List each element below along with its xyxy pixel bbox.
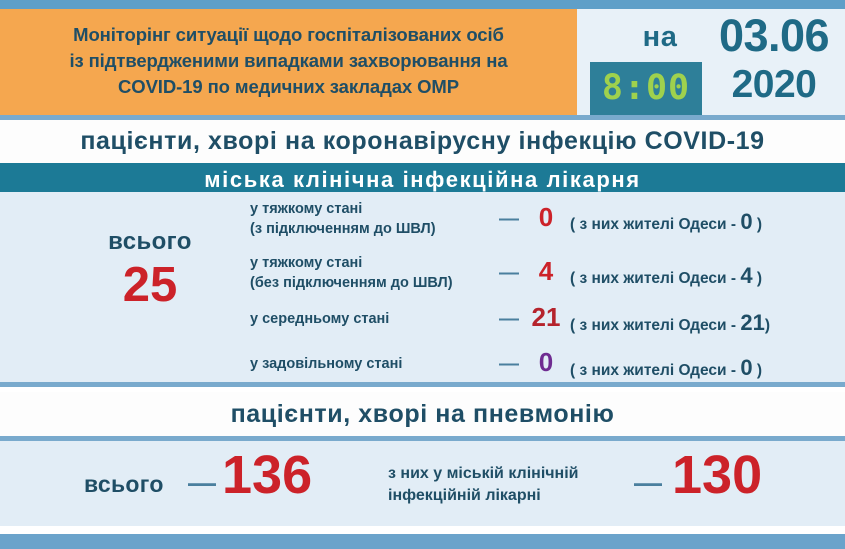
- row-value: 21: [522, 302, 570, 333]
- report-date: 03.06: [709, 13, 839, 58]
- row-label-line-1: у задовільному стані: [250, 355, 492, 375]
- row-odesa-prefix: ( з них жителі Одеси -: [570, 362, 740, 379]
- report-year: 2020: [709, 65, 839, 104]
- row-odesa-prefix: ( з них жителі Одеси -: [570, 270, 740, 287]
- pneumonia-sub-label-line-2: інфекційній лікарні: [388, 485, 638, 507]
- row-odesa-prefix: ( з них жителі Одеси -: [570, 216, 740, 233]
- page-title-line-2: із підтвердженими випадками захворювання…: [69, 48, 507, 74]
- row-odesa-value: 0: [740, 209, 752, 234]
- row-label-line-2: (без підключенням до ШВЛ): [250, 274, 492, 294]
- row-odesa-value: 21: [740, 310, 764, 335]
- header: Моніторінг ситуації щодо госпіталізовани…: [0, 9, 845, 115]
- clock-time-text: 8:00: [602, 71, 690, 106]
- pneumonia-sub-dash: —: [634, 467, 662, 499]
- row-label-line-1: у тяжкому стані: [250, 200, 492, 220]
- covid-section-title: пацієнти, хворі на коронавірусну інфекці…: [80, 127, 764, 156]
- as-of-label: на: [605, 21, 715, 54]
- pneumonia-sub-label: з них у міській клінічній інфекційній лі…: [388, 463, 638, 506]
- covid-total-block: всього 25: [62, 228, 238, 311]
- row-value: 0: [522, 202, 570, 233]
- page-title-line-3: COVID-19 по медичних закладах ОМР: [69, 74, 507, 100]
- rule-pneumonia-top: [0, 382, 845, 387]
- row-value: 4: [522, 256, 570, 287]
- row-odesa-value: 4: [740, 263, 752, 288]
- row-odesa-note: ( з них жителі Одеси - 4 ): [570, 263, 762, 289]
- row-odesa-suffix: ): [753, 216, 762, 233]
- row-odesa-suffix: ): [753, 270, 762, 287]
- table-row: у середньому стані — 21 ( з них жителі О…: [250, 304, 845, 347]
- pneumonia-sub-label-line-1: з них у міській клінічній: [388, 463, 638, 485]
- row-label: у задовільному стані: [250, 355, 492, 375]
- pneumonia-sub-value: 130: [672, 448, 762, 502]
- page-title-line-1: Моніторінг ситуації щодо госпіталізовани…: [69, 22, 507, 48]
- row-dash: —: [492, 208, 526, 231]
- infographic-poster: Моніторінг ситуації щодо госпіталізовани…: [0, 0, 845, 549]
- pneumonia-total-value: 136: [222, 448, 312, 502]
- row-odesa-note: ( з них жителі Одеси - 21): [570, 310, 770, 336]
- row-label: у тяжкому стані (з підключенням до ШВЛ): [250, 200, 492, 239]
- bottom-accent-strip: [0, 534, 845, 549]
- table-row: у тяжкому стані (без підключенням до ШВЛ…: [250, 248, 845, 304]
- row-label-line-1: у середньому стані: [250, 310, 492, 330]
- pneumonia-total-dash: —: [188, 467, 216, 499]
- covid-section-title-band: пацієнти, хворі на коронавірусну інфекці…: [0, 120, 845, 163]
- page-title: Моніторінг ситуації щодо госпіталізовани…: [69, 22, 507, 101]
- pneumonia-total-label: всього: [84, 471, 164, 498]
- row-dash: —: [492, 308, 526, 331]
- pneumonia-data-panel: всього — 136 з них у міській клінічній і…: [0, 441, 845, 526]
- covid-total-value: 25: [62, 260, 238, 311]
- row-label-line-2: (з підключенням до ШВЛ): [250, 220, 492, 240]
- header-title-box: Моніторінг ситуації щодо госпіталізовани…: [0, 9, 577, 115]
- row-dash: —: [492, 262, 526, 285]
- row-odesa-value: 0: [740, 355, 752, 380]
- row-odesa-prefix: ( з них жителі Одеси -: [570, 317, 740, 334]
- row-odesa-note: ( з них жителі Одеси - 0 ): [570, 209, 762, 235]
- row-odesa-suffix: ): [753, 362, 762, 379]
- row-dash: —: [492, 353, 526, 376]
- row-value: 0: [522, 347, 570, 378]
- top-accent-strip: [0, 0, 845, 9]
- clock-display: 8:00: [590, 62, 702, 115]
- covid-facility-name: міська клінічна інфекційна лікарня: [204, 167, 640, 193]
- row-odesa-suffix: ): [765, 317, 770, 334]
- table-row: у тяжкому стані (з підключенням до ШВЛ) …: [250, 200, 845, 248]
- pneumonia-section-title-band: пацієнти, хворі на пневмонію: [0, 392, 845, 436]
- row-odesa-note: ( з них жителі Одеси - 0 ): [570, 355, 762, 381]
- row-label-line-1: у тяжкому стані: [250, 254, 492, 274]
- covid-rows: у тяжкому стані (з підключенням до ШВЛ) …: [250, 200, 845, 390]
- pneumonia-section-title: пацієнти, хворі на пневмонію: [231, 400, 615, 429]
- header-datetime-box: на 8:00 03.06 2020: [577, 9, 845, 115]
- covid-total-label: всього: [62, 228, 238, 256]
- covid-data-panel: всього 25 у тяжкому стані (з підключення…: [0, 192, 845, 382]
- row-label: у середньому стані: [250, 310, 492, 330]
- row-label: у тяжкому стані (без підключенням до ШВЛ…: [250, 254, 492, 293]
